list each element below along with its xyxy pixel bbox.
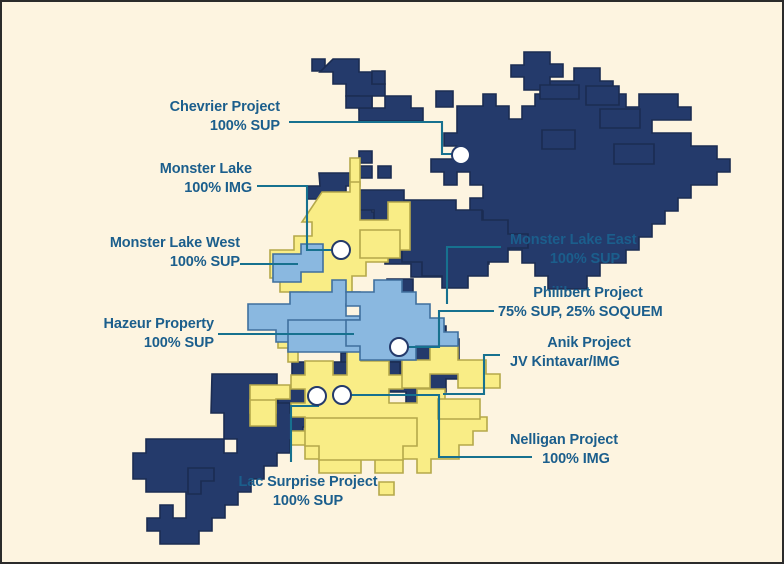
navy-whisker-3: [378, 166, 391, 178]
navy-whisker-1: [359, 151, 372, 163]
label-chevrier-project-title: Chevrier Project: [24, 98, 280, 117]
label-anik-project-title: Anik Project: [510, 334, 668, 353]
label-philibert-project-title: Philibert Project: [498, 284, 678, 303]
label-monster-lake-east: Monster Lake East 100% SUP: [510, 231, 764, 270]
label-nelligan-project: Nelligan Project 100% IMG: [510, 431, 764, 470]
label-monster-lake-title: Monster Lake: [24, 160, 252, 179]
marker-chevrier[interactable]: [452, 146, 470, 164]
label-monster-lake-west-ownership: 100% SUP: [24, 253, 240, 272]
label-nelligan-project-title: Nelligan Project: [510, 431, 764, 450]
label-lac-surprise-project: Lac Surprise Project 100% SUP: [188, 473, 428, 512]
yellow-monster-lake-east-lobe: [360, 230, 400, 258]
label-lac-surprise-project-title: Lac Surprise Project: [188, 473, 428, 492]
label-chevrier-project-ownership: 100% SUP: [24, 117, 280, 136]
label-anik-project-ownership: JV Kintavar/IMG: [510, 353, 764, 372]
navy-pod-2: [540, 85, 579, 99]
navy-pod-5: [542, 130, 575, 149]
label-chevrier-project: Chevrier Project 100% SUP: [24, 98, 280, 137]
marker-nelligan[interactable]: [333, 386, 351, 404]
marker-monster-lake[interactable]: [332, 241, 350, 259]
label-philibert-project-ownership: 75% SUP, 25% SOQUEM: [498, 303, 770, 322]
navy-tendril-c: [372, 71, 385, 84]
label-hazeur-property-ownership: 100% SUP: [24, 334, 214, 353]
navy-pod-4: [600, 109, 640, 128]
label-hazeur-property: Hazeur Property 100% SUP: [24, 315, 214, 354]
label-lac-surprise-project-ownership: 100% SUP: [188, 492, 428, 511]
leader-chevrier: [289, 122, 461, 154]
navy-whisker-2: [359, 166, 372, 178]
label-monster-lake-west-title: Monster Lake West: [24, 234, 240, 253]
marker-philibert[interactable]: [390, 338, 408, 356]
marker-lac-surprise[interactable]: [308, 387, 326, 405]
label-monster-lake-ownership: 100% IMG: [24, 179, 252, 198]
navy-pod-3: [586, 86, 619, 105]
property-map-figure: Chevrier Project 100% SUP Monster Lake 1…: [0, 0, 784, 564]
navy-pod-6: [614, 144, 654, 164]
navy-tendril-e: [346, 96, 372, 108]
label-monster-lake-east-title: Monster Lake East: [510, 231, 764, 250]
yellow-lac-surprise-step: [250, 400, 276, 426]
label-monster-lake: Monster Lake 100% IMG: [24, 160, 252, 199]
label-anik-project: Anik Project JV Kintavar/IMG: [510, 334, 764, 373]
label-monster-lake-west: Monster Lake West 100% SUP: [24, 234, 240, 273]
yellow-small-block-right: [438, 399, 480, 419]
label-hazeur-property-title: Hazeur Property: [24, 315, 214, 334]
label-philibert-project: Philibert Project 75% SUP, 25% SOQUEM: [498, 284, 770, 323]
label-nelligan-project-ownership: 100% IMG: [510, 450, 642, 469]
label-monster-lake-east-ownership: 100% SUP: [510, 250, 660, 269]
navy-small-sq-1: [436, 91, 453, 107]
yellow-nelligan-lower: [305, 418, 417, 460]
